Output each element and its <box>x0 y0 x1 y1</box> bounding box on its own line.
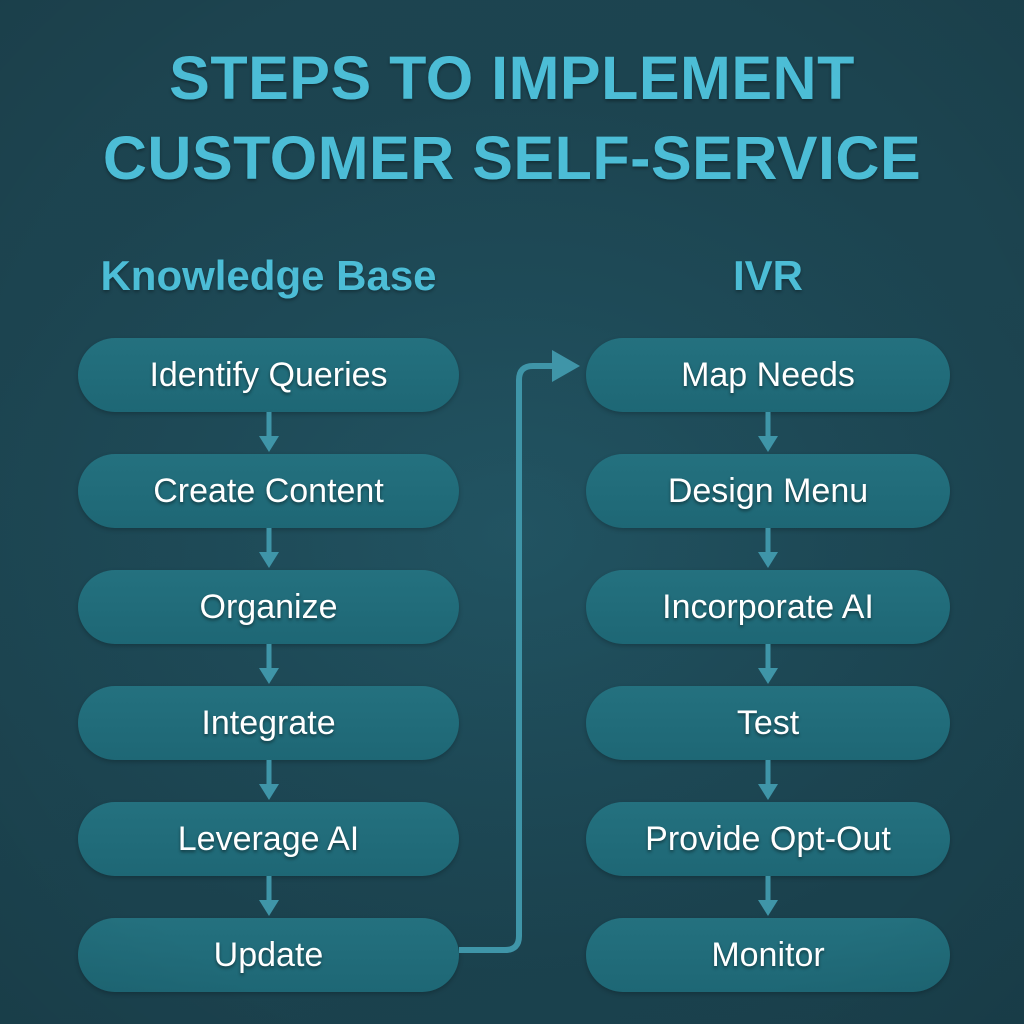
column-heading-knowledge-base: Knowledge Base <box>78 252 459 300</box>
step-label: Provide Opt-Out <box>645 822 891 856</box>
arrow-down-icon <box>756 528 780 570</box>
arrow-right-icon <box>552 350 580 382</box>
step-label: Update <box>214 938 324 972</box>
arrow-down-icon <box>257 760 281 802</box>
step-pill-leverage-ai[interactable]: Leverage AI <box>78 802 459 876</box>
page-title-line-1: Steps to Implement <box>169 44 855 112</box>
step-label: Create Content <box>153 474 384 508</box>
arrow-down-icon <box>756 760 780 802</box>
arrow-down-icon <box>756 644 780 686</box>
arrow-down-icon <box>257 412 281 454</box>
column-heading-ivr: IVR <box>586 252 950 300</box>
step-label: Test <box>737 706 799 740</box>
step-pill-integrate[interactable]: Integrate <box>78 686 459 760</box>
step-pill-monitor[interactable]: Monitor <box>586 918 950 992</box>
step-pill-provide-opt-out[interactable]: Provide Opt-Out <box>586 802 950 876</box>
step-label: Leverage AI <box>178 822 359 856</box>
step-pill-test[interactable]: Test <box>586 686 950 760</box>
step-label: Design Menu <box>668 474 868 508</box>
step-label: Organize <box>200 590 338 624</box>
arrow-down-icon <box>257 644 281 686</box>
step-label: Map Needs <box>681 358 855 392</box>
step-pill-create-content[interactable]: Create Content <box>78 454 459 528</box>
arrow-down-icon <box>257 876 281 918</box>
arrow-down-icon <box>257 528 281 570</box>
step-pill-design-menu[interactable]: Design Menu <box>586 454 950 528</box>
step-label: Monitor <box>711 938 824 972</box>
step-pill-identify-queries[interactable]: Identify Queries <box>78 338 459 412</box>
column-ivr: Map Needs Design Menu Incorporate AI Tes… <box>586 338 950 992</box>
flowchart-canvas: Steps to Implement Customer Self-Service… <box>0 0 1024 1024</box>
page-title-line-2: Customer Self-Service <box>0 118 1024 198</box>
step-pill-map-needs[interactable]: Map Needs <box>586 338 950 412</box>
step-pill-update[interactable]: Update <box>78 918 459 992</box>
column-knowledge-base: Identify Queries Create Content Organize… <box>78 338 459 992</box>
page-title: Steps to Implement Customer Self-Service <box>0 38 1024 198</box>
arrow-down-icon <box>756 876 780 918</box>
step-label: Incorporate AI <box>662 590 874 624</box>
step-pill-incorporate-ai[interactable]: Incorporate AI <box>586 570 950 644</box>
step-label: Identify Queries <box>149 358 387 392</box>
step-pill-organize[interactable]: Organize <box>78 570 459 644</box>
arrow-down-icon <box>756 412 780 454</box>
step-label: Integrate <box>201 706 335 740</box>
